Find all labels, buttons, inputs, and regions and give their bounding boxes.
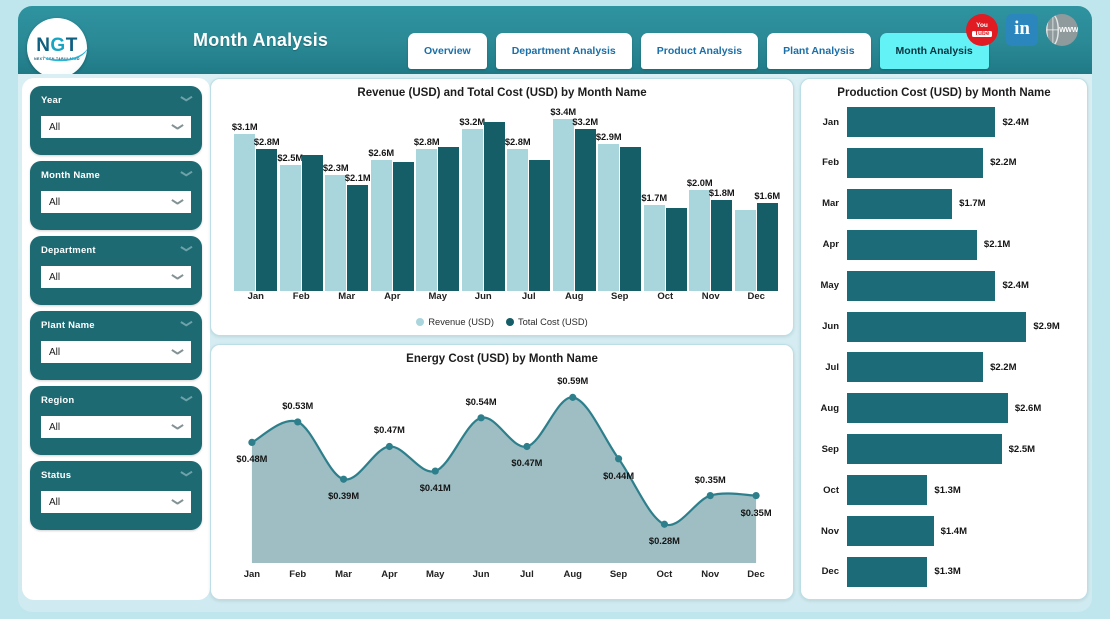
production-cost-bar[interactable] [847, 475, 927, 505]
energy-data-point[interactable] [615, 455, 622, 462]
chevron-down-icon[interactable] [181, 396, 191, 402]
energy-data-point[interactable] [340, 476, 347, 483]
production-cost-value-label: $1.3M [934, 566, 960, 577]
production-cost-bar[interactable] [847, 148, 983, 178]
website-glyph: WWW [1059, 27, 1078, 34]
production-cost-track: $1.3M [847, 475, 1077, 505]
x-tick-label: Oct [641, 569, 687, 585]
bar-group: $2.6M$2.6M [370, 109, 416, 291]
website-icon[interactable]: WWW [1046, 14, 1078, 46]
revenue-bar[interactable]: $2.0M [689, 190, 710, 291]
production-cost-track: $2.5M [847, 434, 1077, 464]
company-logo: NGT NEXT GEN TABULATED [27, 18, 87, 78]
energy-value-label: $0.48M [236, 454, 267, 464]
revenue-cost-chart-title: Revenue (USD) and Total Cost (USD) by Mo… [211, 79, 793, 99]
globe-lines-icon [1046, 14, 1059, 46]
production-cost-row: Jan$2.4M [811, 107, 1077, 137]
x-tick-label: Jul [504, 569, 550, 585]
revenue-bar[interactable]: $1.6M [735, 210, 756, 291]
production-cost-value-label: $2.9M [1033, 321, 1059, 332]
bar-group: $1.7M$1.7M [643, 109, 689, 291]
bar-value-label: $3.2M [459, 117, 485, 127]
filter-year-label: Year [41, 95, 191, 106]
legend-swatch-icon [416, 318, 424, 326]
filter-status[interactable]: Status All [30, 461, 202, 530]
bar-value-label: $1.7M [641, 193, 667, 203]
production-cost-bar[interactable] [847, 434, 1002, 464]
energy-value-label: $0.53M [282, 401, 313, 411]
revenue-cost-chart-card: Revenue (USD) and Total Cost (USD) by Mo… [210, 78, 794, 336]
energy-value-label: $0.59M [557, 376, 588, 386]
y-tick-label: Aug [811, 403, 847, 414]
production-cost-track: $2.9M [847, 312, 1077, 342]
total-cost-bar[interactable]: $3.2M [575, 129, 596, 291]
revenue-cost-legend: Revenue (USD)Total Cost (USD) [211, 317, 793, 327]
x-tick-label: Apr [366, 569, 412, 585]
filter-department[interactable]: Department All [30, 236, 202, 305]
production-cost-value-label: $2.1M [984, 239, 1010, 250]
production-cost-value-label: $2.4M [1002, 117, 1028, 128]
x-tick-label: Feb [279, 291, 325, 307]
revenue-bar[interactable]: $2.8M [416, 149, 437, 291]
production-cost-bar[interactable] [847, 557, 927, 587]
tab-overview[interactable]: Overview [408, 33, 487, 69]
chevron-down-icon [172, 499, 183, 505]
energy-data-point[interactable] [707, 492, 714, 499]
app-header: NGT NEXT GEN TABULATED Month Analysis Ov… [18, 6, 1092, 74]
y-tick-label: May [811, 280, 847, 291]
y-tick-label: Nov [811, 526, 847, 537]
energy-cost-chart-title: Energy Cost (USD) by Month Name [211, 345, 793, 365]
revenue-bar[interactable]: $1.7M [644, 205, 665, 291]
x-tick-label: Mar [324, 291, 370, 307]
production-cost-value-label: $2.2M [990, 157, 1016, 168]
x-tick-label: Sep [596, 569, 642, 585]
production-cost-value-label: $2.6M [1015, 403, 1041, 414]
x-tick-label: Nov [687, 569, 733, 585]
filter-sidebar: Year All Month Name All Department All [22, 78, 210, 600]
y-tick-label: Sep [811, 444, 847, 455]
revenue-bar[interactable]: $2.8M [507, 149, 528, 291]
production-cost-track: $2.6M [847, 393, 1077, 423]
production-cost-bar[interactable] [847, 230, 977, 260]
y-tick-label: Jun [811, 321, 847, 332]
x-tick-label: Apr [370, 291, 416, 307]
filter-region[interactable]: Region All [30, 386, 202, 455]
y-tick-label: Apr [811, 239, 847, 250]
bar-group: $2.8M$2.6M [506, 109, 552, 291]
legend-item[interactable]: Total Cost (USD) [506, 317, 588, 327]
production-cost-track: $2.1M [847, 230, 1077, 260]
y-tick-label: Jul [811, 362, 847, 373]
production-cost-track: $2.4M [847, 271, 1077, 301]
linkedin-icon[interactable]: in [1006, 14, 1038, 46]
bar-value-label: $2.8M [254, 137, 280, 147]
total-cost-bar[interactable]: $2.8M [256, 149, 277, 291]
x-tick-label: Jan [233, 291, 279, 307]
energy-data-point[interactable] [477, 414, 484, 421]
energy-data-point[interactable] [752, 492, 759, 499]
production-cost-row: Jul$2.2M [811, 352, 1077, 382]
filter-plant-name[interactable]: Plant Name All [30, 311, 202, 380]
energy-value-label: $0.41M [420, 483, 451, 493]
energy-value-label: $0.39M [328, 491, 359, 501]
production-cost-track: $2.4M [847, 107, 1077, 137]
production-cost-row: Oct$1.3M [811, 475, 1077, 505]
revenue-cost-plot-area: $3.1M$2.8M$2.5M$2.7M$2.3M$2.1M$2.6M$2.6M… [233, 109, 779, 291]
tab-plant-analysis[interactable]: Plant Analysis [767, 33, 870, 69]
production-cost-bar[interactable] [847, 352, 983, 382]
energy-data-point[interactable] [523, 443, 530, 450]
filter-month-name-select[interactable]: All [41, 191, 191, 213]
revenue-bar[interactable]: $2.9M [598, 144, 619, 291]
production-cost-row: Feb$2.2M [811, 148, 1077, 178]
energy-data-point[interactable] [248, 439, 255, 446]
bar-group: $2.5M$2.7M [279, 109, 325, 291]
tab-product-analysis[interactable]: Product Analysis [641, 33, 758, 69]
total-cost-bar[interactable]: $2.1M [347, 185, 368, 291]
filter-year[interactable]: Year All [30, 86, 202, 155]
filter-region-value: All [49, 422, 172, 433]
bar-group: $2.3M$2.1M [324, 109, 370, 291]
bar-value-label: $2.8M [414, 137, 440, 147]
x-tick-label: Aug [550, 569, 596, 585]
bar-value-label: $2.0M [687, 178, 713, 188]
filter-month-name[interactable]: Month Name All [30, 161, 202, 230]
filter-month-name-label: Month Name [41, 170, 191, 181]
energy-data-point[interactable] [569, 394, 576, 401]
production-cost-bar[interactable] [847, 271, 995, 301]
production-cost-value-label: $1.4M [941, 526, 967, 537]
bar-group: $2.9M$2.9M [597, 109, 643, 291]
total-cost-bar[interactable]: $3.3M [484, 122, 505, 291]
total-cost-bar[interactable]: $2.6M [393, 162, 414, 291]
filter-department-label: Department [41, 245, 191, 256]
production-cost-value-label: $2.5M [1009, 444, 1035, 455]
bar-group: $3.1M$2.8M [233, 109, 279, 291]
production-cost-bar[interactable] [847, 516, 934, 546]
nav-tabs: Overview Department Analysis Product Ana… [408, 33, 989, 69]
y-tick-label: Jan [811, 117, 847, 128]
chevron-down-icon[interactable] [181, 171, 191, 177]
filter-year-value: All [49, 122, 172, 133]
production-cost-bar[interactable] [847, 107, 995, 137]
total-cost-bar[interactable]: $2.9M [438, 147, 459, 291]
energy-data-point[interactable] [294, 418, 301, 425]
dashboard-body: Year All Month Name All Department All [18, 74, 1092, 612]
energy-value-label: $0.35M [695, 475, 726, 485]
youtube-icon[interactable]: You Tube [966, 14, 998, 46]
bar-value-label: $2.9M [596, 132, 622, 142]
production-cost-track: $1.7M [847, 189, 1077, 219]
energy-data-point[interactable] [386, 443, 393, 450]
production-cost-track: $2.2M [847, 148, 1077, 178]
y-tick-label: Oct [811, 485, 847, 496]
production-cost-value-label: $1.3M [934, 485, 960, 496]
production-cost-bar[interactable] [847, 393, 1008, 423]
energy-value-label: $0.44M [603, 471, 634, 481]
bar-group: $1.6M$1.6M [734, 109, 780, 291]
filter-region-label: Region [41, 395, 191, 406]
energy-area-fill [252, 397, 756, 563]
revenue-cost-x-axis: JanFebMarAprMayJunJulAugSepOctNovDec [233, 291, 779, 307]
revenue-bar[interactable]: $3.1M [234, 134, 255, 291]
filter-plant-name-select[interactable]: All [41, 341, 191, 363]
bar-value-label: $1.6M [754, 191, 780, 201]
bar-value-label: $3.1M [232, 122, 258, 132]
chevron-down-icon [172, 124, 183, 130]
bar-value-label: $3.4M [550, 107, 576, 117]
bar-group: $3.2M$3.3M [461, 109, 507, 291]
legend-label: Revenue (USD) [428, 317, 494, 327]
x-tick-label: Jul [506, 291, 552, 307]
chevron-down-icon[interactable] [181, 471, 191, 477]
production-cost-value-label: $2.4M [1002, 280, 1028, 291]
energy-value-label: $0.47M [511, 458, 542, 468]
revenue-bar[interactable]: $3.2M [462, 129, 483, 291]
total-cost-bar[interactable]: $1.8M [711, 200, 732, 291]
filter-month-name-value: All [49, 197, 172, 208]
bar-value-label: $2.1M [345, 173, 371, 183]
total-cost-bar[interactable]: $2.6M [529, 160, 550, 291]
production-cost-plot-area: Jan$2.4MFeb$2.2MMar$1.7MApr$2.1MMay$2.4M… [811, 107, 1077, 587]
revenue-bar[interactable]: $2.6M [371, 160, 392, 291]
x-tick-label: May [412, 569, 458, 585]
production-cost-bar[interactable] [847, 189, 952, 219]
x-tick-label: Jan [229, 569, 275, 585]
energy-cost-plot-area: $0.48M$0.53M$0.39M$0.47M$0.41M$0.54M$0.4… [229, 373, 779, 563]
y-tick-label: Dec [811, 566, 847, 577]
production-cost-row: Dec$1.3M [811, 557, 1077, 587]
revenue-bar[interactable]: $3.4M [553, 119, 574, 291]
revenue-bar[interactable]: $2.5M [280, 165, 301, 291]
x-tick-label: Dec [733, 569, 779, 585]
energy-value-label: $0.54M [466, 397, 497, 407]
production-cost-track: $1.4M [847, 516, 1077, 546]
production-cost-track: $1.3M [847, 557, 1077, 587]
social-links: You Tube in WWW [966, 14, 1078, 46]
chevron-down-icon [172, 199, 183, 205]
total-cost-bar[interactable]: $2.9M [620, 147, 641, 291]
y-tick-label: Mar [811, 198, 847, 209]
total-cost-bar[interactable]: $1.7M [666, 208, 687, 291]
x-tick-label: Dec [734, 291, 780, 307]
x-tick-label: Aug [552, 291, 598, 307]
production-cost-bar[interactable] [847, 312, 1026, 342]
filter-status-value: All [49, 497, 172, 508]
x-tick-label: Sep [597, 291, 643, 307]
x-tick-label: Feb [275, 569, 321, 585]
bar-group: $3.4M$3.2M [552, 109, 598, 291]
chevron-down-icon [172, 274, 183, 280]
production-cost-value-label: $1.7M [959, 198, 985, 209]
filter-year-select[interactable]: All [41, 116, 191, 138]
legend-swatch-icon [506, 318, 514, 326]
revenue-bar[interactable]: $2.3M [325, 175, 346, 291]
bar-value-label: $2.8M [505, 137, 531, 147]
chevron-down-icon[interactable] [181, 246, 191, 252]
filter-status-label: Status [41, 470, 191, 481]
chevron-down-icon[interactable] [181, 96, 191, 102]
production-cost-row: Sep$2.5M [811, 434, 1077, 464]
y-tick-label: Feb [811, 157, 847, 168]
youtube-label-bottom: Tube [972, 31, 991, 38]
x-tick-label: Jun [461, 291, 507, 307]
energy-value-label: $0.35M [741, 508, 772, 518]
filter-department-value: All [49, 272, 172, 283]
bar-group: $2.0M$1.8M [688, 109, 734, 291]
bar-value-label: $2.5M [277, 153, 303, 163]
chevron-down-icon [172, 349, 183, 355]
bar-value-label: $2.6M [368, 148, 394, 158]
filter-status-select[interactable]: All [41, 491, 191, 513]
x-tick-label: Nov [688, 291, 734, 307]
page-title: Month Analysis [193, 30, 328, 51]
energy-cost-x-axis: JanFebMarAprMayJunJulAugSepOctNovDec [229, 569, 779, 585]
energy-value-label: $0.28M [649, 536, 680, 546]
production-cost-row: May$2.4M [811, 271, 1077, 301]
filter-plant-name-label: Plant Name [41, 320, 191, 331]
logo-mark: NGT [36, 36, 78, 55]
chevron-down-icon [172, 424, 183, 430]
energy-data-point[interactable] [432, 467, 439, 474]
production-cost-row: Aug$2.6M [811, 393, 1077, 423]
production-cost-row: Mar$1.7M [811, 189, 1077, 219]
x-tick-label: May [415, 291, 461, 307]
total-cost-bar[interactable]: $2.7M [302, 155, 323, 292]
filter-department-select[interactable]: All [41, 266, 191, 288]
production-cost-chart-card: Production Cost (USD) by Month Name Jan$… [800, 78, 1088, 600]
production-cost-track: $2.2M [847, 352, 1077, 382]
chevron-down-icon[interactable] [181, 321, 191, 327]
bar-value-label: $3.2M [572, 117, 598, 127]
bar-value-label: $1.8M [709, 188, 735, 198]
filter-region-select[interactable]: All [41, 416, 191, 438]
energy-data-point[interactable] [661, 521, 668, 528]
revenue-cost-bar-row: $3.1M$2.8M$2.5M$2.7M$2.3M$2.1M$2.6M$2.6M… [233, 109, 779, 291]
tab-department-analysis[interactable]: Department Analysis [496, 33, 632, 69]
production-cost-chart-title: Production Cost (USD) by Month Name [801, 79, 1087, 99]
energy-cost-chart-card: Energy Cost (USD) by Month Name $0.48M$0… [210, 344, 794, 600]
production-cost-row: Apr$2.1M [811, 230, 1077, 260]
youtube-label-top: You [976, 23, 988, 30]
bar-group: $2.8M$2.9M [415, 109, 461, 291]
energy-value-label: $0.47M [374, 425, 405, 435]
production-cost-row: Jun$2.9M [811, 312, 1077, 342]
linkedin-glyph: in [1014, 18, 1030, 40]
total-cost-bar[interactable]: $1.6M [757, 203, 778, 291]
x-tick-label: Jun [458, 569, 504, 585]
x-tick-label: Mar [321, 569, 367, 585]
legend-label: Total Cost (USD) [518, 317, 588, 327]
production-cost-row: Nov$1.4M [811, 516, 1077, 546]
legend-item[interactable]: Revenue (USD) [416, 317, 494, 327]
x-tick-label: Oct [643, 291, 689, 307]
filter-plant-name-value: All [49, 347, 172, 358]
production-cost-value-label: $2.2M [990, 362, 1016, 373]
bar-value-label: $2.3M [323, 163, 349, 173]
